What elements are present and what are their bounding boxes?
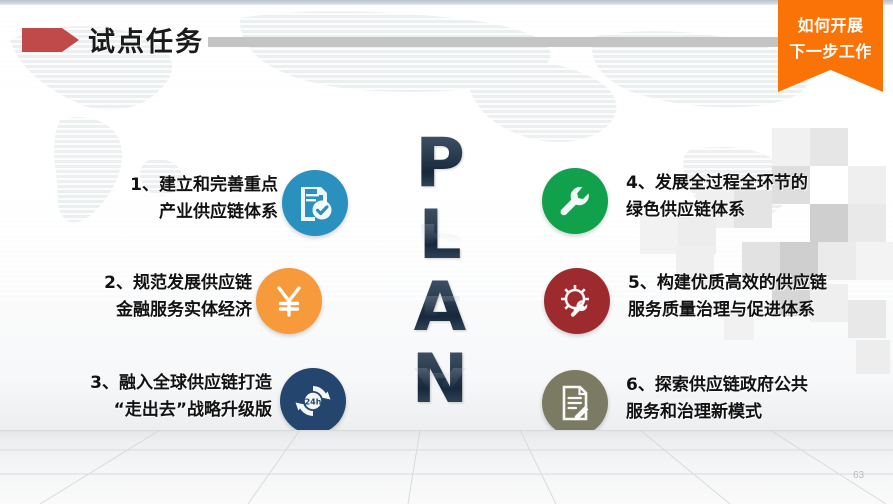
slide-canvas: 试点任务 如何开展 下一步工作 P L A N PLAN 1、建立和完善重点 产…: [0, 0, 893, 504]
task-item-5-line-1: 5、构建优质高效的供应链: [628, 270, 890, 297]
top-accent-strip: [0, 0, 893, 5]
task-item-3-line-1: 3、融入全球供应链打造: [34, 370, 272, 397]
task-item-2-line-1: 2、规范发展供应链: [46, 270, 252, 297]
task-item-6-text: 6、探索供应链政府公共 服务和治理新模式: [626, 372, 872, 426]
document-check-icon: [295, 183, 335, 223]
cycle-24h-icon: 24h: [293, 381, 333, 421]
task-item-3-icon-circle[interactable]: 24h: [280, 368, 346, 434]
page-number: 63: [853, 470, 864, 481]
task-item-1-line-1: 1、建立和完善重点: [60, 172, 278, 199]
ribbon-line-1: 如何开展: [778, 12, 883, 36]
plan-letter-reflection: L: [385, 288, 495, 328]
plan-wordmark: P L A N PLAN: [385, 128, 495, 448]
floor-grid: [0, 430, 893, 504]
title-arrow-icon: [22, 26, 80, 54]
task-item-1-line-2: 产业供应链体系: [60, 199, 278, 226]
task-item-4-icon-circle[interactable]: [542, 168, 608, 234]
perspective-floor: [0, 430, 893, 504]
gear-wrench-icon: [557, 281, 597, 321]
page-title: 试点任务: [88, 20, 204, 59]
plan-letter-reflection: P: [385, 216, 495, 256]
task-item-2-icon-circle[interactable]: [256, 268, 322, 334]
task-item-1[interactable]: 1、建立和完善重点 产业供应链体系: [60, 170, 350, 246]
task-item-5[interactable]: 5、构建优质高效的供应链 服务质量治理与促进体系: [544, 268, 889, 344]
task-item-4-line-1: 4、发展全过程全环节的: [626, 170, 872, 197]
task-item-2-text: 2、规范发展供应链 金融服务实体经济: [46, 270, 252, 324]
task-item-6-line-1: 6、探索供应链政府公共: [626, 372, 872, 399]
plan-letter-p: P: [385, 128, 495, 200]
task-item-6-line-2: 服务和治理新模式: [626, 399, 872, 426]
title-underline-bar: [208, 37, 800, 47]
task-item-5-line-2: 服务质量治理与促进体系: [628, 297, 890, 324]
task-item-4[interactable]: 4、发展全过程全环节的 绿色供应链体系: [542, 168, 872, 244]
ribbon-line-2: 下一步工作: [778, 38, 883, 62]
wrench-icon: [555, 181, 595, 221]
svg-text:24h: 24h: [305, 397, 322, 406]
task-item-1-text: 1、建立和完善重点 产业供应链体系: [60, 172, 278, 226]
task-item-2-line-2: 金融服务实体经济: [46, 297, 252, 324]
task-item-2[interactable]: 2、规范发展供应链 金融服务实体经济: [46, 268, 336, 344]
document-pen-icon: [555, 383, 595, 423]
yen-currency-icon: [269, 281, 309, 321]
plan-letter-reflection: A: [385, 360, 495, 400]
task-item-5-text: 5、构建优质高效的供应链 服务质量治理与促进体系: [628, 270, 890, 324]
task-item-3-text: 3、融入全球供应链打造 “走出去”战略升级版: [34, 370, 272, 424]
task-item-1-icon-circle[interactable]: [282, 170, 348, 236]
task-item-4-line-2: 绿色供应链体系: [626, 197, 872, 224]
task-item-5-icon-circle[interactable]: [544, 268, 610, 334]
task-item-3-line-2: “走出去”战略升级版: [34, 397, 272, 424]
task-item-4-text: 4、发展全过程全环节的 绿色供应链体系: [626, 170, 872, 224]
task-item-6-icon-circle[interactable]: [542, 370, 608, 436]
